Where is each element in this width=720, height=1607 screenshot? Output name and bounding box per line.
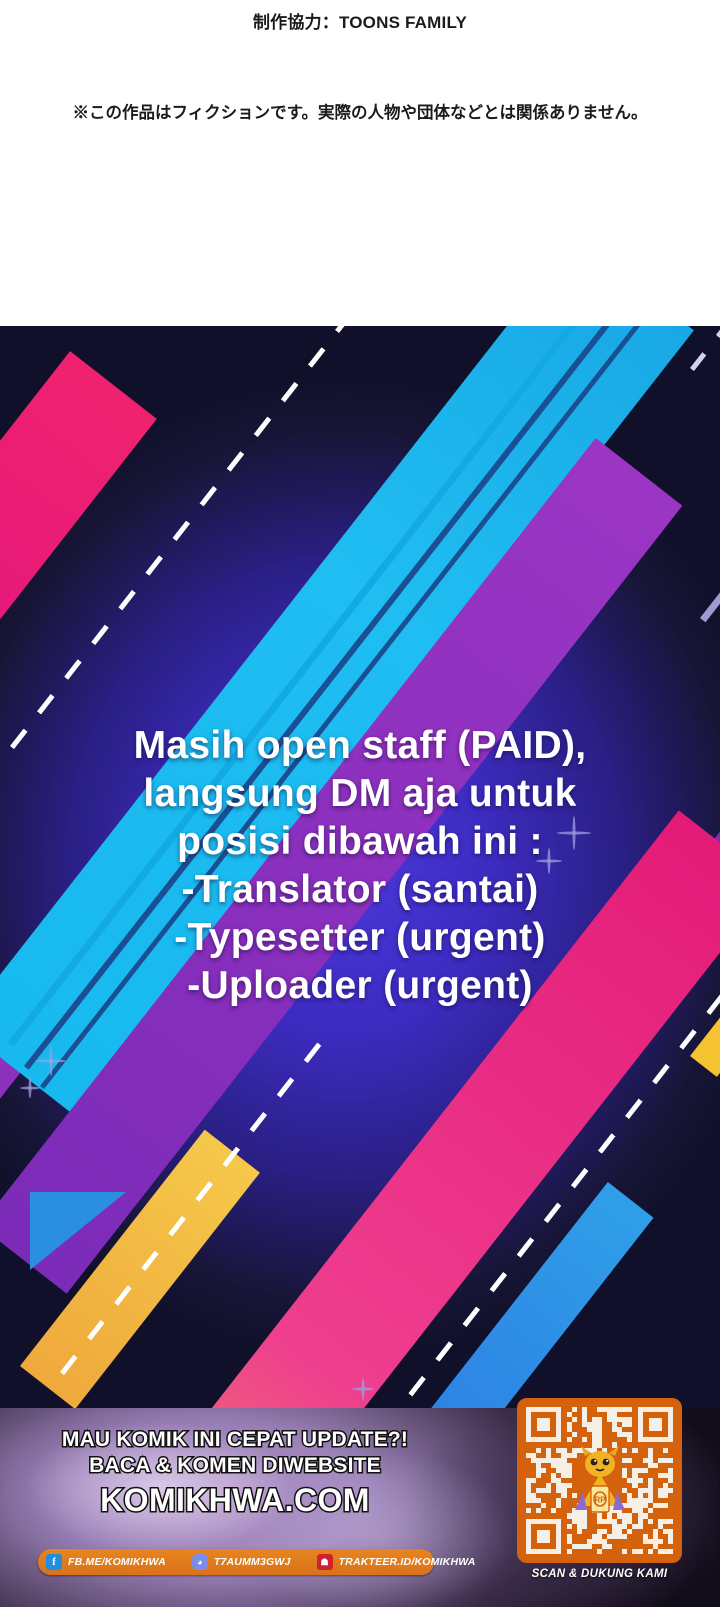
trakteer-link-label: TRAKTEER.ID/KOMIKHWA	[339, 1556, 476, 1568]
decor-dashed-line-right-upper	[690, 326, 720, 371]
social-links-bar[interactable]: f FB.ME/KOMIKHWA ◕ T7AUMM3GWJ ☗ TRAKTEER…	[38, 1549, 434, 1575]
recruitment-promo-banner: Masih open staff (PAID), langsung DM aja…	[0, 326, 720, 1408]
decor-sparkle-footer-top	[352, 1378, 374, 1400]
footer-headline-2: BACA & KOMEN DIWEBSITE	[0, 1454, 470, 1478]
promo-line-4: -Translator (santai)	[0, 866, 720, 914]
promo-text-block: Masih open staff (PAID), langsung DM aja…	[0, 722, 720, 1010]
social-link-facebook[interactable]: f FB.ME/KOMIKHWA	[38, 1549, 166, 1575]
credits-section: 制作協力：TOONS FAMILY ※この作品はフィクションです。実際の人物や団…	[0, 0, 720, 326]
decor-sparkle-left-2	[20, 1078, 40, 1098]
facebook-link-label: FB.ME/KOMIKHWA	[68, 1556, 166, 1568]
production-credit-line: 制作協力：TOONS FAMILY	[0, 8, 720, 33]
footer-website-url: KOMIKHWA.COM	[0, 1482, 470, 1519]
decor-lavender-stripe-1	[700, 326, 720, 622]
decor-magenta-shape-topleft	[0, 351, 157, 624]
discord-icon: ◕	[192, 1554, 208, 1570]
trakteer-icon: ☗	[317, 1554, 333, 1570]
facebook-icon: f	[46, 1554, 62, 1570]
promo-line-6: -Uploader (urgent)	[0, 962, 720, 1010]
fiction-disclaimer-line: ※この作品はフィクションです。実際の人物や団体などとは関係ありません。	[0, 99, 720, 123]
social-link-discord[interactable]: ◕ T7AUMM3GWJ	[184, 1549, 291, 1575]
qr-code-image[interactable]: RP	[517, 1398, 682, 1563]
decor-sparkle-left-1	[36, 1046, 66, 1076]
qr-mascot-icon: RP	[569, 1444, 631, 1518]
decor-blue-triangle-left	[30, 1192, 126, 1270]
discord-link-label: T7AUMM3GWJ	[214, 1556, 291, 1568]
donation-qr-block[interactable]: RP SCAN & DUKUNG KAMI	[517, 1398, 682, 1598]
promo-line-2: langsung DM aja untuk	[0, 770, 720, 818]
social-link-trakteer[interactable]: ☗ TRAKTEER.ID/KOMIKHWA	[309, 1549, 476, 1575]
svg-text:RP: RP	[594, 1495, 606, 1504]
footer-headline-1: MAU KOMIK INI CEPAT UPDATE?!	[0, 1428, 470, 1452]
footer-text-group: MAU KOMIK INI CEPAT UPDATE?! BACA & KOME…	[0, 1408, 470, 1607]
promo-line-5: -Typesetter (urgent)	[0, 914, 720, 962]
promo-line-3: posisi dibawah ini :	[0, 818, 720, 866]
promo-line-1: Masih open staff (PAID),	[0, 722, 720, 770]
qr-caption: SCAN & DUKUNG KAMI	[517, 1568, 682, 1580]
